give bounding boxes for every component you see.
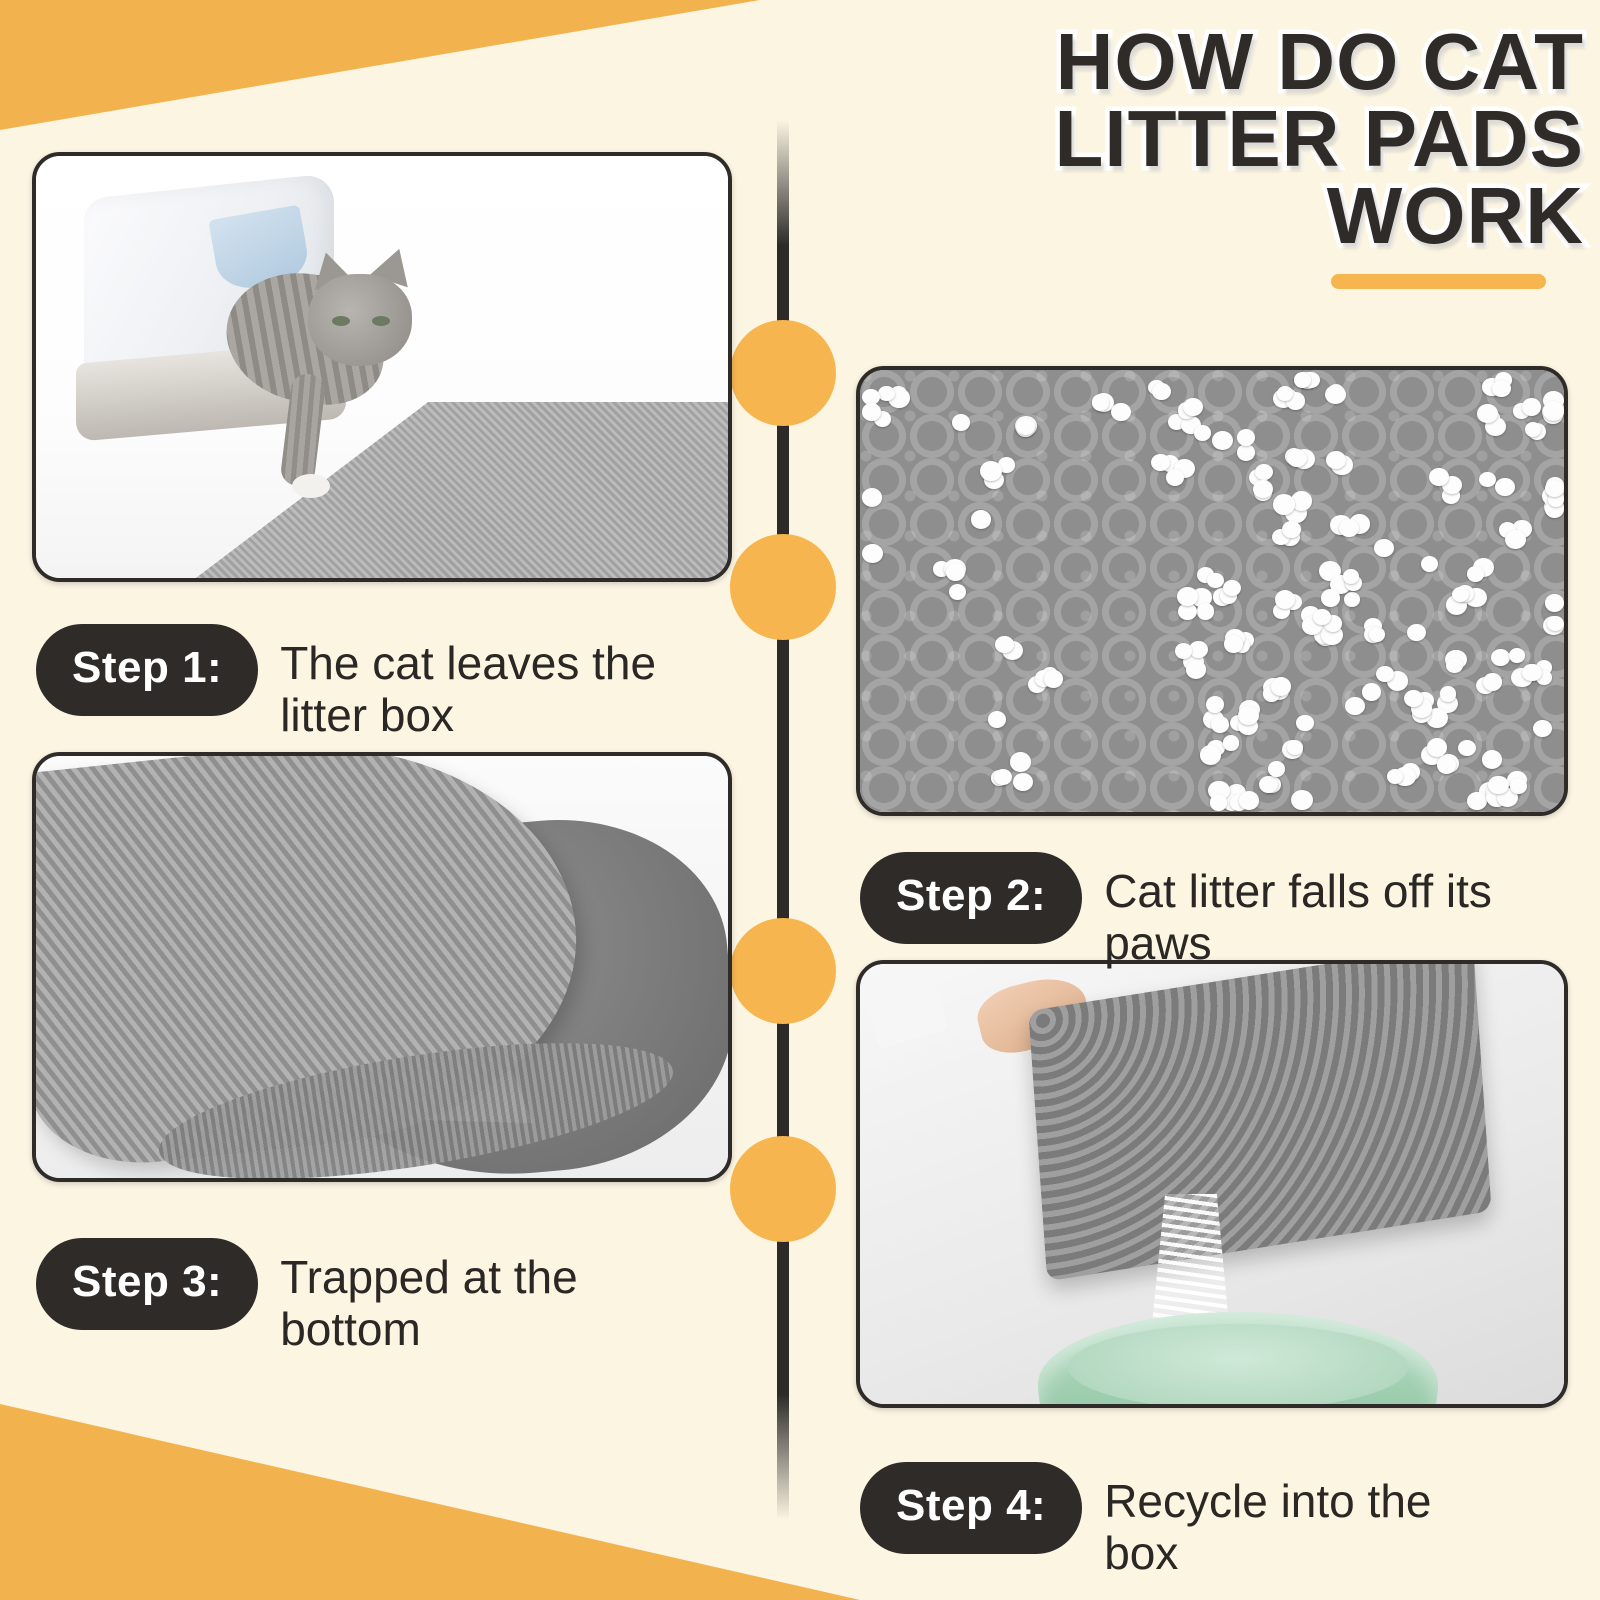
step-3-badge: Step 3:	[36, 1238, 258, 1330]
litter-pellet	[1545, 594, 1564, 612]
litter-pellet	[1437, 756, 1456, 774]
litter-pellet	[1287, 740, 1303, 755]
litter-pellet	[1259, 776, 1277, 793]
timeline-dot-2	[730, 534, 836, 640]
title-line-1: HOW DO CAT	[784, 24, 1584, 101]
litter-pellet	[1407, 624, 1425, 641]
litter-pellet	[1206, 696, 1224, 713]
litter-pellet	[1223, 735, 1240, 750]
timeline-dot-3	[730, 918, 836, 1024]
litter-pellet	[1522, 398, 1541, 416]
litter-pellet	[1183, 398, 1203, 416]
litter-pellet	[1239, 791, 1259, 809]
litter-pellet	[949, 584, 966, 600]
litter-pellet	[1429, 468, 1449, 486]
litter-pellet	[1296, 715, 1313, 731]
litter-pellet	[1223, 580, 1241, 596]
litter-pellet	[1224, 635, 1243, 653]
step-4-badge: Step 4:	[860, 1462, 1082, 1554]
step-4-text: Recycle into the box	[1082, 1462, 1502, 1579]
litter-pellet	[1291, 790, 1313, 810]
litter-pellet	[1440, 686, 1456, 701]
litter-pellet	[1477, 404, 1497, 423]
litter-pellet	[1369, 627, 1385, 642]
litter-pellet	[1175, 643, 1192, 659]
litter-pellet	[971, 510, 992, 529]
step-2-text: Cat litter falls off its paws	[1082, 852, 1502, 969]
step-2-photo	[856, 366, 1568, 816]
cat-head	[308, 274, 412, 366]
litter-pellet	[862, 403, 881, 421]
step-2-badge: Step 2:	[860, 852, 1082, 944]
step-4-caption: Step 4: Recycle into the box	[860, 1462, 1560, 1579]
cat-eye-right	[372, 316, 390, 326]
litter-pellet	[1488, 776, 1508, 795]
litter-pellet	[1482, 750, 1502, 769]
litter-pellet	[1237, 429, 1255, 445]
litter-pellet	[1313, 609, 1330, 625]
step-1-photo	[32, 152, 732, 582]
green-basin-interior	[1068, 1324, 1408, 1408]
title-underline	[1331, 274, 1546, 289]
litter-pellet	[862, 544, 883, 563]
litter-pellet	[1237, 444, 1255, 461]
litter-pellet	[1321, 589, 1340, 607]
step-4-photo	[856, 960, 1568, 1408]
page-title: HOW DO CAT LITTER PADS WORK	[784, 24, 1584, 289]
litter-pellet	[1479, 472, 1496, 487]
litter-pellet	[1343, 569, 1359, 584]
title-line-3: WORK	[784, 178, 1584, 255]
litter-pellet	[1253, 480, 1273, 498]
step-3-photo	[32, 752, 732, 1182]
step-3-caption: Step 3: Trapped at the bottom	[36, 1238, 736, 1355]
litter-pellet	[1374, 539, 1394, 557]
litter-pellet	[1200, 745, 1221, 765]
step-1-caption: Step 1: The cat leaves the litter box	[36, 624, 736, 741]
litter-pellet	[1547, 616, 1564, 632]
litter-pellet	[1339, 519, 1359, 538]
litter-pellet	[1277, 386, 1293, 401]
litter-pellet	[1111, 403, 1131, 421]
litter-pellet	[1467, 566, 1484, 581]
timeline-dot-1	[730, 320, 836, 426]
litter-pellet	[1275, 590, 1295, 609]
litter-pellet	[1210, 794, 1228, 810]
litter-pellet	[1326, 451, 1346, 469]
litter-pellet	[1152, 383, 1170, 400]
litter-pellet	[1207, 573, 1224, 588]
litter-pellet	[1273, 494, 1295, 514]
litter-pellet	[1197, 603, 1215, 619]
litter-pellet	[988, 711, 1006, 728]
litter-pellet	[995, 636, 1013, 653]
cat-eye-left	[332, 316, 350, 326]
litter-pellet	[1092, 394, 1110, 410]
cat-paw	[292, 474, 330, 498]
litter-pellet	[1194, 425, 1211, 441]
litter-pellet	[1543, 401, 1564, 421]
litter-pellet	[1545, 480, 1564, 497]
litter-pellet	[1010, 752, 1031, 771]
litter-pellet	[1376, 666, 1394, 682]
litter-pellet	[1166, 469, 1184, 486]
corner-decoration-top-left	[0, 0, 760, 130]
litter-pellet	[946, 563, 965, 580]
litter-pellet	[1404, 690, 1422, 707]
litter-pellet	[1345, 697, 1365, 715]
litter-pellet	[1491, 649, 1509, 666]
litter-pellet	[1255, 464, 1273, 480]
litter-pellet	[1421, 556, 1438, 572]
litter-pellet	[1387, 769, 1403, 784]
litter-pellet	[1522, 664, 1541, 682]
title-line-2: LITTER PADS	[784, 101, 1584, 178]
litter-pellet	[952, 414, 970, 431]
litter-pellet	[878, 386, 895, 402]
litter-pellet	[1525, 422, 1541, 437]
litter-pellet	[1467, 792, 1487, 811]
step-1-text: The cat leaves the litter box	[258, 624, 678, 741]
step-2-caption: Step 2: Cat litter falls off its paws	[860, 852, 1560, 969]
litter-pellet	[1325, 385, 1346, 404]
litter-pellet	[1294, 372, 1311, 388]
litter-pellet	[1177, 587, 1197, 606]
step-3-text: Trapped at the bottom	[258, 1238, 678, 1355]
litter-pellet	[1268, 761, 1285, 776]
timeline-dot-4	[730, 1136, 836, 1242]
litter-pellet	[1211, 716, 1229, 733]
litter-pellet	[980, 461, 1002, 481]
litter-pellet	[1189, 641, 1208, 658]
litter-pellet	[1044, 670, 1063, 688]
step-1-badge: Step 1:	[36, 624, 258, 716]
corner-decoration-bottom-left	[0, 1370, 860, 1600]
